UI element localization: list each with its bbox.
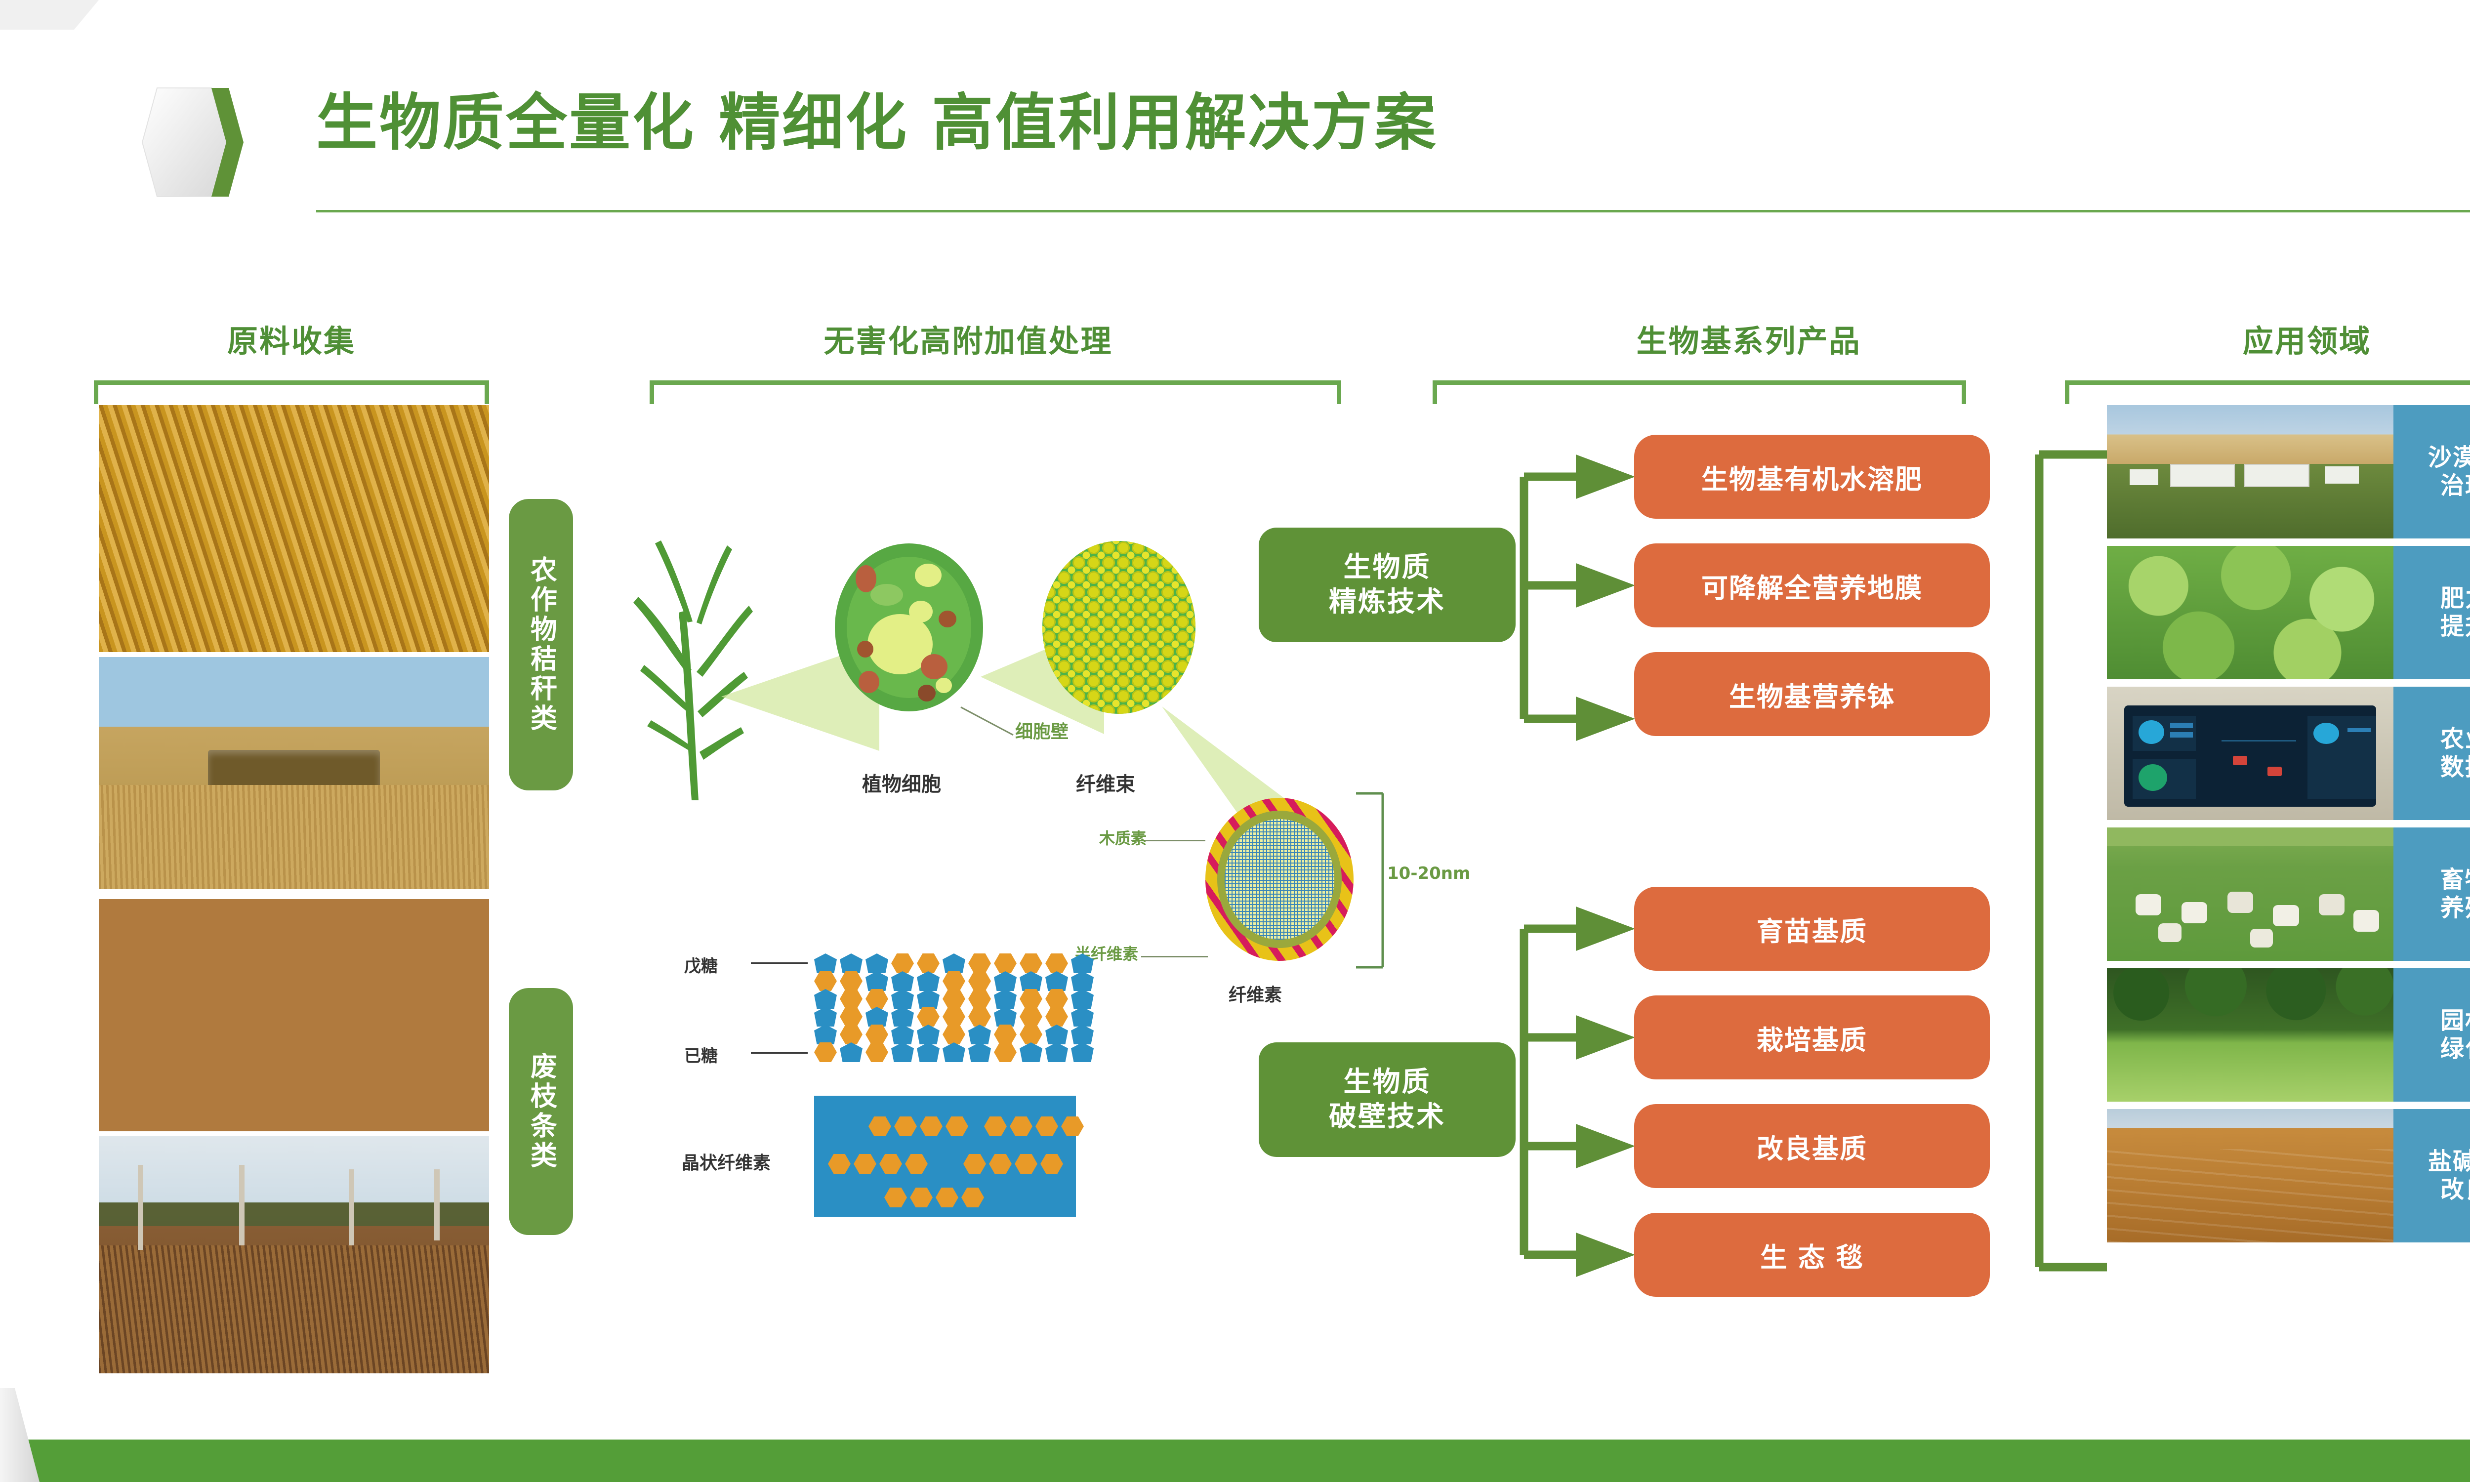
- app-line2: 绿化: [2440, 1035, 2470, 1063]
- section-header-products: 生物基系列产品: [1413, 316, 2085, 361]
- app-line1: 肥力: [2440, 584, 2470, 612]
- bracket-raw-material: [94, 380, 489, 404]
- bottom-left-wedge: [0, 1363, 128, 1482]
- label-hexose: 已糖: [684, 1042, 718, 1067]
- sugar-chain-illustration: [814, 953, 1076, 1062]
- bracket-products: [1433, 380, 1966, 404]
- application-row-desertification-control[interactable]: 沙漠化 治理: [2107, 405, 2470, 538]
- category-pill-crop-straw[interactable]: 农作物秸秆类: [509, 499, 573, 790]
- app-line1: 农业: [2440, 725, 2470, 753]
- photo-saline-soil: [2107, 1109, 2393, 1242]
- bottom-green-band: [0, 1440, 2470, 1482]
- app-line2: 数据: [2440, 753, 2470, 781]
- app-line2: 提升: [2440, 613, 2470, 640]
- hexose-leader-line: [751, 1052, 808, 1054]
- section-header-raw-material-collection: 原料收集: [114, 316, 469, 361]
- application-row-livestock-breeding[interactable]: 畜牧 养殖: [2107, 827, 2470, 961]
- app-line1: 园林: [2440, 1007, 2470, 1034]
- product-label: 育苗基质: [1757, 909, 1867, 948]
- fiber-bundle-illustration: [1042, 541, 1195, 714]
- hemicellulose-leader-line: [1141, 956, 1208, 957]
- photo-pruned-branches: [99, 899, 489, 1131]
- label-cellulose: 纤维素: [1229, 981, 1282, 1006]
- label-pentose: 戊糖: [684, 952, 718, 977]
- product-pill-biobased-nutrient-pot[interactable]: 生物基营养钵: [1634, 652, 1990, 736]
- product-pill-improvement-substrate[interactable]: 改良基质: [1634, 1104, 1990, 1188]
- app-line2: 治理: [2440, 472, 2470, 499]
- plant-cell-illustration: [835, 543, 983, 711]
- product-pill-cultivation-substrate[interactable]: 栽培基质: [1634, 995, 1990, 1079]
- category-pill-waste-branches-label: 废枝条类: [527, 1052, 555, 1171]
- tech-wallbreak-line1: 生物质: [1344, 1066, 1431, 1098]
- application-label-livestock-breeding: 畜牧 养殖: [2393, 827, 2470, 961]
- pentose-leader-line: [751, 962, 808, 964]
- product-label: 生物基营养钵: [1729, 675, 1895, 714]
- application-row-landscape-greening[interactable]: 园林 绿化: [2107, 968, 2470, 1102]
- label-plant-cell: 植物细胞: [862, 768, 941, 797]
- application-label-agricultural-data: 农业 数据: [2393, 687, 2470, 820]
- tech-refining-line2: 精炼技术: [1329, 586, 1445, 618]
- bracket-applications: [2065, 380, 2470, 404]
- bracket-processing: [650, 380, 1341, 404]
- page-title: 生物质全量化 精细化 高值利用解决方案: [316, 86, 1438, 160]
- crystalline-cellulose-illustration: [814, 1096, 1076, 1217]
- tech-wallbreak-line2: 破壁技术: [1329, 1101, 1445, 1133]
- application-label-landscape-greening: 园林 绿化: [2393, 968, 2470, 1102]
- product-label: 可降解全营养地膜: [1701, 566, 1923, 605]
- product-label: 改良基质: [1757, 1127, 1867, 1166]
- tech-box-biomass-wall-breaking[interactable]: 生物质 破壁技术: [1259, 1042, 1516, 1157]
- top-left-wedge: [0, 0, 99, 30]
- photo-orchard-pruning: [99, 1136, 489, 1373]
- title-underline: [316, 210, 2470, 212]
- product-label: 栽培基质: [1757, 1018, 1867, 1057]
- label-fiber-bundle: 纤维束: [1076, 768, 1135, 797]
- tech-box-biomass-refining[interactable]: 生物质 精炼技术: [1259, 528, 1516, 642]
- photo-park-lawn: [2107, 968, 2393, 1102]
- photo-straw-bale-field: [99, 657, 489, 889]
- cellulose-cross-section: [1205, 798, 1354, 961]
- product-pill-biobased-organic-water-soluble-fertilizer[interactable]: 生物基有机水溶肥: [1634, 435, 1990, 519]
- photo-corn-stover-field: [99, 405, 489, 652]
- label-crystalline-cellulose: 晶状纤维素: [682, 1149, 771, 1174]
- label-lignin: 木质素: [1099, 826, 1147, 849]
- category-pill-waste-branches[interactable]: 废枝条类: [509, 988, 573, 1235]
- application-row-agricultural-data[interactable]: 农业 数据: [2107, 687, 2470, 820]
- section-header-processing: 无害化高附加值处理: [583, 316, 1354, 361]
- app-line1: 畜牧: [2440, 866, 2470, 894]
- application-label-saline-alkali-land-improvement: 盐碱地 改良: [2393, 1109, 2470, 1242]
- product-label: 生 态 毯: [1760, 1236, 1864, 1275]
- tech-refining-line1: 生物质: [1344, 551, 1431, 583]
- hexagon-logo-mark: [137, 83, 251, 202]
- application-row-fertility-improvement[interactable]: 肥力 提升: [2107, 546, 2470, 679]
- product-pill-seedling-substrate[interactable]: 育苗基质: [1634, 887, 1990, 971]
- section-header-applications: 应用领域: [2055, 316, 2470, 361]
- photo-cabbage-field: [2107, 546, 2393, 679]
- photo-desert-plot: [2107, 405, 2393, 538]
- application-label-fertility-improvement: 肥力 提升: [2393, 546, 2470, 679]
- product-pill-ecological-blanket[interactable]: 生 态 毯: [1634, 1213, 1990, 1297]
- application-row-saline-alkali-land-improvement[interactable]: 盐碱地 改良: [2107, 1109, 2470, 1242]
- category-pill-crop-straw-label: 农作物秸秆类: [527, 556, 555, 734]
- photo-data-control-room: [2107, 687, 2393, 820]
- label-fiber-dimension: 10-20nm: [1387, 864, 1470, 883]
- application-label-desertification-control: 沙漠化 治理: [2393, 405, 2470, 538]
- app-line1: 沙漠化: [2428, 444, 2470, 471]
- product-pill-degradable-full-nutrient-mulch-film[interactable]: 可降解全营养地膜: [1634, 543, 1990, 627]
- product-label: 生物基有机水溶肥: [1701, 457, 1923, 496]
- app-line2: 改良: [2440, 1176, 2470, 1203]
- photo-sheep-pasture: [2107, 827, 2393, 961]
- app-line2: 养殖: [2440, 894, 2470, 922]
- app-line1: 盐碱地: [2428, 1148, 2470, 1175]
